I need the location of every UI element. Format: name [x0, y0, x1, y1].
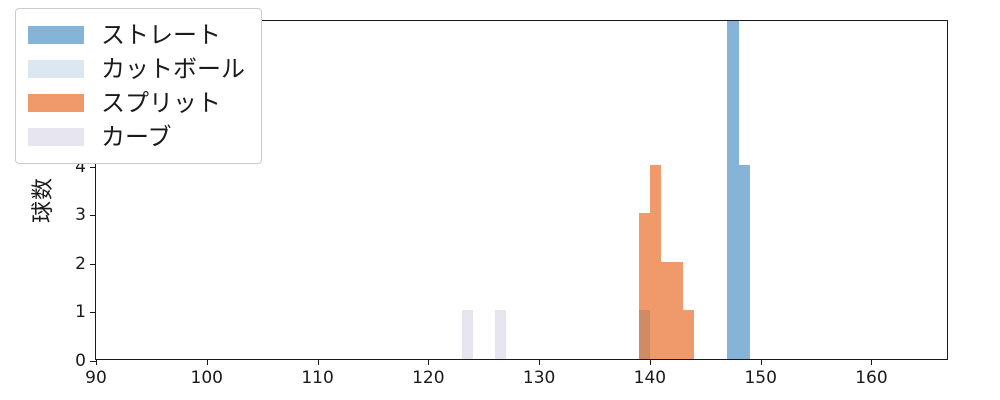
legend-item-label: カーブ	[101, 125, 172, 149]
histogram-bar	[462, 310, 473, 359]
y-tick-mark	[90, 312, 96, 313]
x-tick-label: 110	[301, 368, 333, 388]
legend-color-swatch	[28, 60, 84, 78]
histogram-bar	[683, 310, 694, 359]
y-axis-title: 球数	[25, 177, 57, 223]
legend-item-3[interactable]: カーブ	[28, 120, 245, 154]
legend-item-label: スプリット	[101, 91, 221, 115]
x-tick-label: 130	[523, 368, 555, 388]
legend-item-2[interactable]: スプリット	[28, 86, 245, 120]
histogram-bar	[495, 310, 506, 359]
x-tick-label: 90	[85, 368, 107, 388]
y-tick-mark	[90, 215, 96, 216]
histogram-bar	[727, 21, 738, 359]
y-tick-mark	[90, 264, 96, 265]
legend-color-swatch	[28, 94, 84, 112]
x-tick-mark	[428, 359, 429, 365]
histogram-bar	[661, 262, 672, 359]
legend-item-label: ストレート	[101, 23, 221, 47]
legend[interactable]: ストレートカットボールスプリットカーブ	[15, 8, 262, 164]
y-tick-label: 2	[75, 254, 86, 274]
x-tick-mark	[761, 359, 762, 365]
legend-item-label: カットボール	[101, 57, 245, 81]
x-tick-mark	[871, 359, 872, 365]
x-tick-mark	[539, 359, 540, 365]
y-tick-label: 3	[75, 205, 86, 225]
x-tick-label: 160	[855, 368, 887, 388]
x-tick-label: 140	[634, 368, 666, 388]
y-tick-label: 1	[75, 302, 86, 322]
x-tick-mark	[96, 359, 97, 365]
x-tick-label: 150	[744, 368, 776, 388]
histogram-bar	[672, 262, 683, 359]
legend-item-0[interactable]: ストレート	[28, 18, 245, 52]
legend-color-swatch	[28, 26, 84, 44]
y-tick-mark	[90, 167, 96, 168]
pitch-speed-histogram-figure: 球数 90100110120130140150160 01234567 ストレー…	[0, 0, 1000, 400]
legend-color-swatch	[28, 128, 84, 146]
x-tick-mark	[650, 359, 651, 365]
histogram-bar	[639, 213, 650, 359]
x-tick-mark	[207, 359, 208, 365]
histogram-bar	[650, 165, 661, 359]
x-tick-label: 120	[412, 368, 444, 388]
x-tick-mark	[318, 359, 319, 365]
legend-item-1[interactable]: カットボール	[28, 52, 245, 86]
y-tick-mark	[90, 361, 96, 362]
x-tick-label: 100	[191, 368, 223, 388]
histogram-bar	[739, 165, 750, 359]
y-tick-label: 0	[75, 351, 86, 371]
